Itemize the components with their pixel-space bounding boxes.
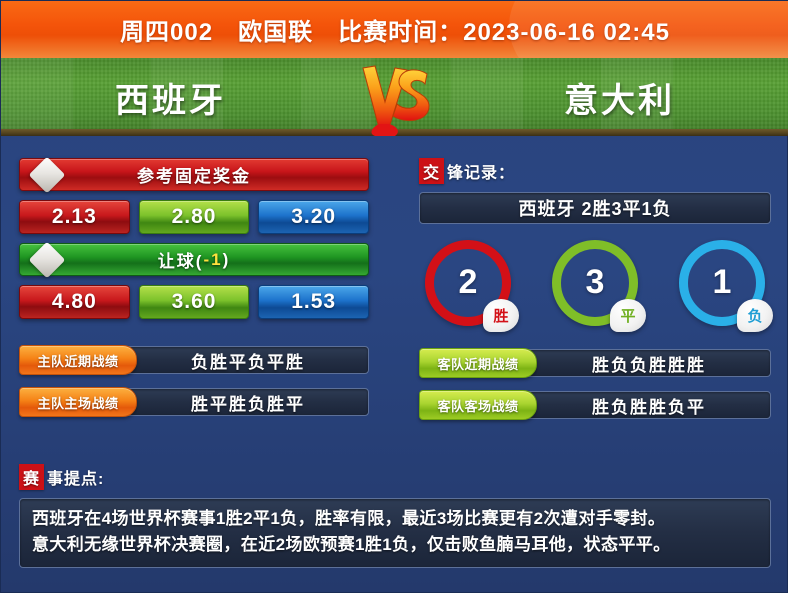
- analysis-panel: 赛事提点: 西班牙在4场世界杯赛事1胜2平1负，胜率有限，最近3场比赛更有2次遭…: [19, 464, 771, 568]
- h2h-win-badge: 胜: [483, 299, 519, 332]
- header-title: 周四002 欧国联 比赛时间：2023-06-16 02:45: [1, 1, 788, 58]
- odds-button-handicap-draw[interactable]: 3.60: [139, 285, 250, 319]
- h2h-label-rest: 锋记录：: [447, 159, 515, 183]
- odds-button-handicap-lose[interactable]: 1.53: [258, 285, 369, 319]
- away-form-group: 客队近期战绩 胜负负胜胜胜 客队客场战绩 胜负胜胜负平: [419, 348, 771, 420]
- h2h-ring-lose: 1 负: [679, 240, 765, 326]
- away-away-form-tag: 客队客场战绩: [419, 390, 537, 420]
- analysis-line-home: 西班牙在4场世界杯赛事1胜2平1负，胜率有限，最近3场比赛更有2次遭对手零封。: [32, 506, 758, 532]
- h2h-ring-win: 2 胜: [425, 240, 511, 326]
- away-away-form-row: 客队客场战绩 胜负胜胜负平: [419, 390, 771, 420]
- odds-button-fixed-lose[interactable]: 3.20: [258, 200, 369, 234]
- analysis-label-rest: 事提点:: [47, 465, 104, 489]
- analysis-label: 赛事提点:: [19, 464, 771, 490]
- home-home-form-tag: 主队主场战绩: [19, 387, 137, 417]
- diamond-icon: [29, 156, 66, 193]
- fixed-odds-row: 2.13 2.80 3.20: [19, 200, 369, 234]
- fixed-odds-title-label: 参考固定奖金: [137, 162, 251, 187]
- home-team-name: 西班牙: [1, 73, 340, 122]
- h2h-ring-draw: 3 平: [552, 240, 638, 326]
- match-header: 周四002 欧国联 比赛时间：2023-06-16 02:45: [1, 1, 788, 58]
- h2h-label: 交锋记录：: [419, 158, 771, 184]
- h2h-draw-count: 3: [586, 263, 605, 302]
- fixed-odds-title: 参考固定奖金: [19, 158, 369, 191]
- pitch-banner: 西班牙 意大利: [1, 58, 788, 136]
- handicap-odds-row: 4.80 3.60 1.53: [19, 285, 369, 319]
- match-preview-card: 周四002 欧国联 比赛时间：2023-06-16 02:45 西班牙: [0, 0, 788, 593]
- main-body: 参考固定奖金 2.13 2.80 3.20 让球(-1) 4.80 3.60 1…: [1, 136, 788, 593]
- home-home-form-row: 主队主场战绩 胜平胜负胜平: [19, 387, 369, 417]
- home-recent-form-row: 主队近期战绩 负胜平负平胜: [19, 345, 369, 375]
- away-recent-form-row: 客队近期战绩 胜负负胜胜胜: [419, 348, 771, 378]
- odds-panel: 参考固定奖金 2.13 2.80 3.20 让球(-1) 4.80 3.60 1…: [19, 158, 369, 417]
- h2h-win-count: 2: [459, 263, 478, 302]
- odds-button-handicap-win[interactable]: 4.80: [19, 285, 130, 319]
- handicap-title-prefix: 让球(: [158, 247, 204, 272]
- h2h-draw-badge: 平: [610, 299, 646, 332]
- home-recent-form-tag: 主队近期战绩: [19, 345, 137, 375]
- away-away-form-value: 胜负胜胜负平: [527, 391, 771, 419]
- handicap-title: 让球(-1): [19, 243, 369, 276]
- handicap-title-suffix: ): [223, 250, 231, 270]
- h2h-lose-badge: 负: [737, 299, 773, 332]
- vs-icon: [349, 58, 441, 136]
- vs-logo: [340, 58, 450, 136]
- analysis-line-away: 意大利无缘世界杯决赛圈，在近2场欧预赛1胜1负，仅击败鱼腩马耳他，状态平平。: [32, 532, 758, 558]
- h2h-summary: 西班牙 2胜3平1负: [419, 192, 771, 224]
- home-home-form-value: 胜平胜负胜平: [127, 388, 369, 416]
- odds-button-fixed-draw[interactable]: 2.80: [139, 200, 250, 234]
- home-form-group: 主队近期战绩 负胜平负平胜 主队主场战绩 胜平胜负胜平: [19, 345, 369, 417]
- analysis-label-highlight: 赛: [19, 464, 44, 490]
- h2h-rings: 2 胜 3 平 1 负: [419, 240, 771, 326]
- h2h-label-highlight: 交: [419, 158, 444, 184]
- h2h-panel: 交锋记录： 西班牙 2胜3平1负 2 胜 3 平: [419, 158, 771, 420]
- teams-row: 西班牙 意大利: [1, 58, 788, 136]
- analysis-box: 西班牙在4场世界杯赛事1胜2平1负，胜率有限，最近3场比赛更有2次遭对手零封。 …: [19, 498, 771, 568]
- away-team-name: 意大利: [450, 73, 788, 122]
- away-recent-form-tag: 客队近期战绩: [419, 348, 537, 378]
- handicap-value: -1: [203, 250, 222, 270]
- odds-button-fixed-win[interactable]: 2.13: [19, 200, 130, 234]
- h2h-lose-count: 1: [713, 263, 732, 302]
- diamond-icon: [29, 241, 66, 278]
- home-recent-form-value: 负胜平负平胜: [127, 346, 369, 374]
- away-recent-form-value: 胜负负胜胜胜: [527, 349, 771, 377]
